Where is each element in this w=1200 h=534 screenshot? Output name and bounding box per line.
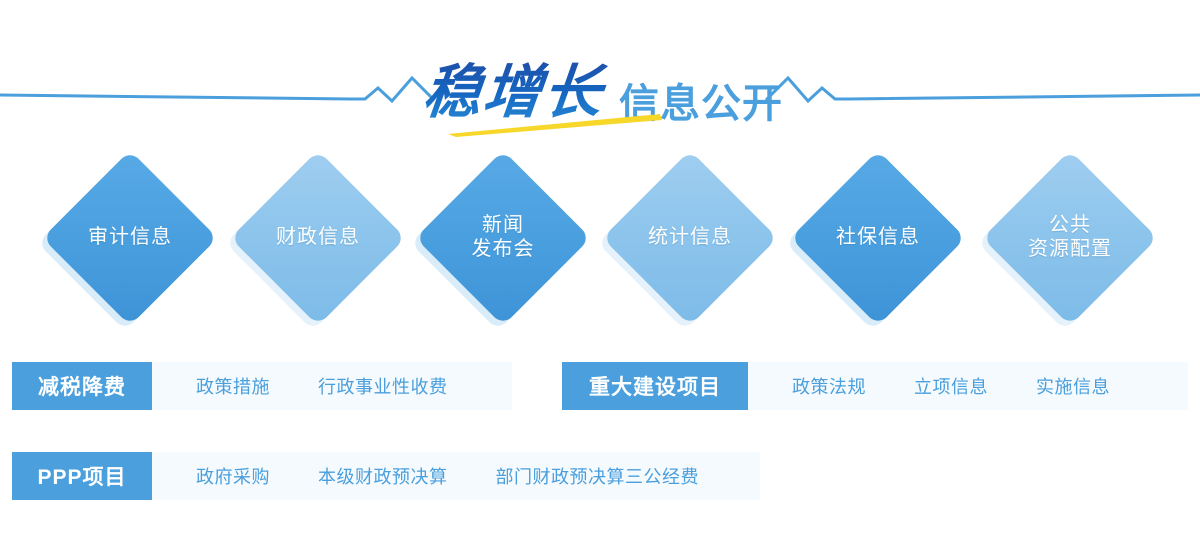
diamond-gonggong-ziyuan-peizhi[interactable]: 公共 资源配置 [1000,168,1140,308]
bar-link-shishi-xinxi[interactable]: 实施信息 [1036,373,1110,399]
stable-growth-info-disclosure-banner: 稳增长 信息公开 审计信息 财政信息 新闻 发布会 统计信息 [0,0,1200,534]
bar-link-xingzheng-shiye-xing-shoufei[interactable]: 行政事业性收费 [318,373,448,399]
bar-tag-ppp-xiangmu[interactable]: PPP项目 [12,452,152,500]
bar-link-zhengce-fagui[interactable]: 政策法规 [792,373,866,399]
diamond-label: 公共 资源配置 [1000,168,1140,308]
bar-link-zhengfu-caigou[interactable]: 政府采购 [196,463,270,489]
diamond-shebao-xinxi[interactable]: 社保信息 [808,168,948,308]
bar-links-zhongda-jianshe-xiangmu: 政策法规 立项信息 实施信息 [748,362,1188,410]
bar-link-lixiang-xinxi[interactable]: 立项信息 [914,373,988,399]
bar-tag-jianshui-jiangfei[interactable]: 减税降费 [12,362,152,410]
bar-link-benji-caizheng-yujuesuan[interactable]: 本级财政预决算 [318,463,448,489]
link-bar-ppp-xiangmu: PPP项目 政府采购 本级财政预决算 部门财政预决算三公经费 [12,452,760,500]
bar-tag-zhongda-jianshe-xiangmu[interactable]: 重大建设项目 [562,362,748,410]
yellow-brush-stroke-icon [446,112,664,138]
diamond-label: 社保信息 [808,168,948,308]
diamond-tongji-xinxi[interactable]: 统计信息 [620,168,760,308]
diamond-xinwen-fabuhui[interactable]: 新闻 发布会 [433,168,573,308]
diamond-caizheng-xinxi[interactable]: 财政信息 [248,168,388,308]
bar-link-zhengce-cuoshi[interactable]: 政策措施 [196,373,270,399]
bar-link-bumen-caizheng-yujuesuan-sangong-jingfei[interactable]: 部门财政预决算三公经费 [496,463,700,489]
link-bar-zhongda-jianshe-xiangmu: 重大建设项目 政策法规 立项信息 实施信息 [562,362,1188,410]
diamond-shenji-xinxi[interactable]: 审计信息 [60,168,200,308]
category-diamond-row: 审计信息 财政信息 新闻 发布会 统计信息 社保信息 公共 资源配置 [0,168,1200,324]
diamond-label: 新闻 发布会 [433,168,573,308]
diamond-label: 统计信息 [620,168,760,308]
diamond-label: 审计信息 [60,168,200,308]
bar-links-ppp-xiangmu: 政府采购 本级财政预决算 部门财政预决算三公经费 [152,452,760,500]
bar-links-jianshui-jiangfei: 政策措施 行政事业性收费 [152,362,512,410]
link-bar-jianshui-jiangfei: 减税降费 政策措施 行政事业性收费 [12,362,512,410]
banner-header: 稳增长 信息公开 [0,0,1200,160]
diamond-label: 财政信息 [248,168,388,308]
